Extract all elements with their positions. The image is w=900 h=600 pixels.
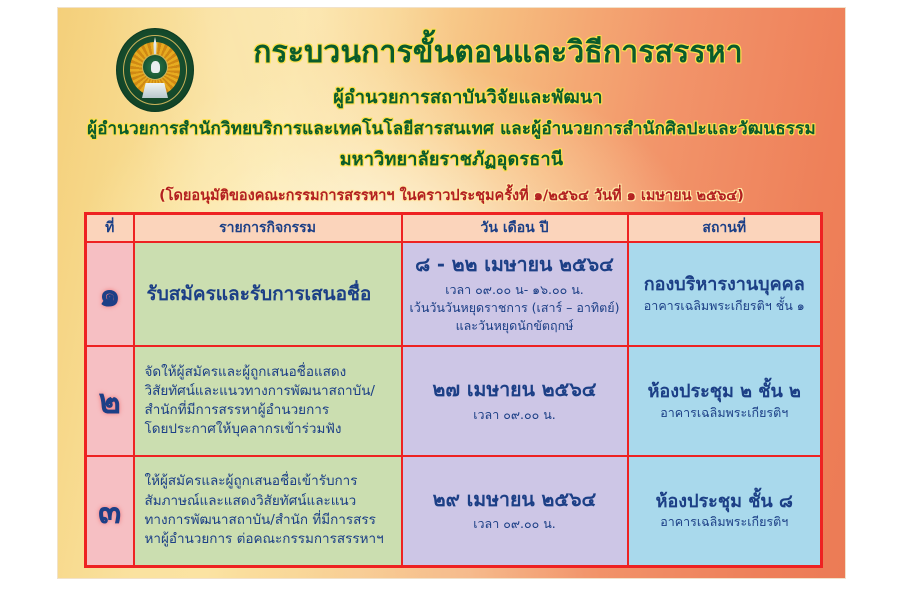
date-detail: และวันหยุดนักขัตฤกษ์: [407, 317, 623, 335]
date-main: ๘ - ๒๒ เมษายน ๒๕๖๔: [407, 253, 623, 276]
location-main: ห้องประชุม ๒ ชั้น ๒: [633, 381, 817, 403]
activity-line: สำนักที่มีการสรรหาผู้อำนวยการ: [145, 401, 397, 420]
location-cell: ห้องประชุม ชั้น ๘อาคารเฉลิมพระเกียรติฯ: [628, 456, 822, 566]
date-cell: ๒๗ เมษายน ๒๕๖๔เวลา ๐๙.๐๐ น.: [402, 346, 628, 456]
activity-line: ให้ผู้สมัครและผู้ถูกเสนอชื่อเข้ารับการ: [145, 472, 397, 491]
date-detail: เวลา ๐๙.๐๐ น- ๑๖.๐๐ น.: [407, 281, 623, 299]
activity-line: ทางการพัฒนาสถาบัน/สำนัก ที่มีการสรร: [145, 511, 397, 530]
row-number: ๓: [86, 456, 134, 566]
date-detail: เวลา ๐๙.๐๐ น.: [407, 515, 623, 533]
column-header-date: วัน เดือน ปี: [402, 214, 628, 243]
location-cell: กองบริหารงานบุคคลอาคารเฉลิมพระเกียรติฯ ช…: [628, 242, 822, 346]
row-number: ๑: [86, 242, 134, 346]
activity-description: ให้ผู้สมัครและผู้ถูกเสนอชื่อเข้ารับการสั…: [139, 472, 397, 549]
activity-line: สัมภาษณ์และแสดงวิสัยทัศน์และแนว: [145, 492, 397, 511]
table-row: ๓ให้ผู้สมัครและผู้ถูกเสนอชื่อเข้ารับการส…: [86, 456, 822, 566]
activity-line: หาผู้อำนวยการ ต่อคณะกรรมการสรรหาฯ: [145, 530, 397, 549]
date-main: ๒๗ เมษายน ๒๕๖๔: [407, 378, 623, 401]
date-main: ๒๙ เมษายน ๒๕๖๔: [407, 488, 623, 511]
approval-note: (โดยอนุมัติของคณะกรรมการสรรหาฯ ในคราวประ…: [70, 184, 833, 207]
date-detail: เว้นวันวันหยุดราชการ (เสาร์ – อาทิตย์): [407, 299, 623, 317]
table-row: ๑รับสมัครและรับการเสนอชื่อ๘ - ๒๒ เมษายน …: [86, 242, 822, 346]
activity-line: วิสัยทัศน์และแนวทางการพัฒนาสถาบัน/: [145, 382, 397, 401]
location-cell: ห้องประชุม ๒ ชั้น ๒อาคารเฉลิมพระเกียรติฯ: [628, 346, 822, 456]
poster-title: กระบวนการขั้นตอนและวิธีการสรรหา: [168, 36, 828, 71]
table-row: ๒จัดให้ผู้สมัครและผู้ถูกเสนอชื่อแสดงวิสั…: [86, 346, 822, 456]
activity-line: โดยประกาศให้บุคลากรเข้าร่วมฟัง: [145, 420, 397, 439]
column-header-no: ที่: [86, 214, 134, 243]
activity-line: จัดให้ผู้สมัครและผู้ถูกเสนอชื่อแสดง: [145, 363, 397, 382]
activity-title: รับสมัครและรับการเสนอชื่อ: [139, 282, 397, 307]
location-detail: อาคารเฉลิมพระเกียรติฯ: [633, 514, 817, 530]
poster-canvas: กระบวนการขั้นตอนและวิธีการสรรหา ผู้อำนวย…: [58, 8, 845, 578]
location-detail: อาคารเฉลิมพระเกียรติฯ: [633, 405, 817, 421]
column-header-location: สถานที่: [628, 214, 822, 243]
activity-description: จัดให้ผู้สมัครและผู้ถูกเสนอชื่อแสดงวิสัย…: [139, 363, 397, 440]
poster-subtitle-2: ผู้อำนวยการสำนักวิทยบริการและเทคโนโลยีสา…: [70, 120, 833, 140]
date-cell: ๒๙ เมษายน ๒๕๖๔เวลา ๐๙.๐๐ น.: [402, 456, 628, 566]
location-main: กองบริหารงานบุคคล: [633, 274, 817, 296]
location-detail: อาคารเฉลิมพระเกียรติฯ ชั้น ๑: [633, 298, 817, 314]
row-number: ๒: [86, 346, 134, 456]
column-header-activity: รายการกิจกรรม: [134, 214, 402, 243]
activity-cell: ให้ผู้สมัครและผู้ถูกเสนอชื่อเข้ารับการสั…: [134, 456, 402, 566]
recruitment-schedule-table: ที่ รายการกิจกรรม วัน เดือน ปี สถานที่ ๑…: [84, 212, 823, 568]
date-cell: ๘ - ๒๒ เมษายน ๒๕๖๔เวลา ๐๙.๐๐ น- ๑๖.๐๐ น.…: [402, 242, 628, 346]
poster-subtitle-1: ผู้อำนวยการสถาบันวิจัยและพัฒนา: [118, 88, 818, 109]
date-detail: เวลา ๐๙.๐๐ น.: [407, 406, 623, 424]
location-main: ห้องประชุม ชั้น ๘: [633, 491, 817, 513]
poster-subtitle-3: มหาวิทยาลัยราชภัฏอุดรธานี: [70, 150, 833, 171]
table-header-row: ที่ รายการกิจกรรม วัน เดือน ปี สถานที่: [86, 214, 822, 243]
activity-cell: รับสมัครและรับการเสนอชื่อ: [134, 242, 402, 346]
activity-cell: จัดให้ผู้สมัครและผู้ถูกเสนอชื่อแสดงวิสัย…: [134, 346, 402, 456]
